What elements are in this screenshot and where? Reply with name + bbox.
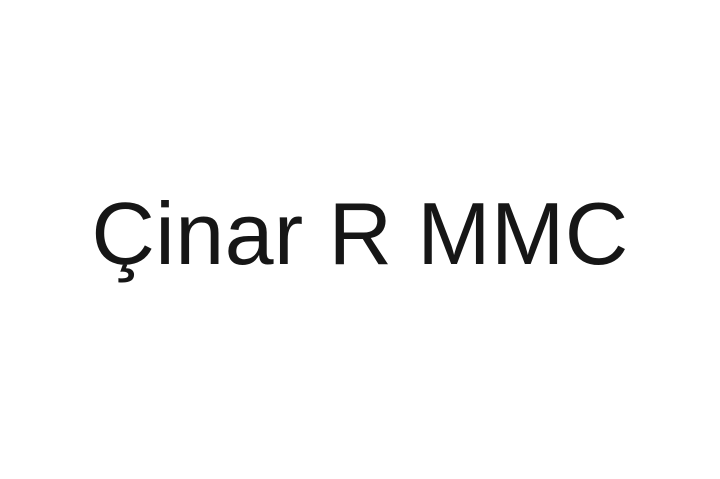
wordmark-container: Çinar R MMC xyxy=(0,0,720,479)
company-wordmark: Çinar R MMC xyxy=(91,190,628,278)
logo-canvas: Çinar R MMC xyxy=(0,0,720,479)
